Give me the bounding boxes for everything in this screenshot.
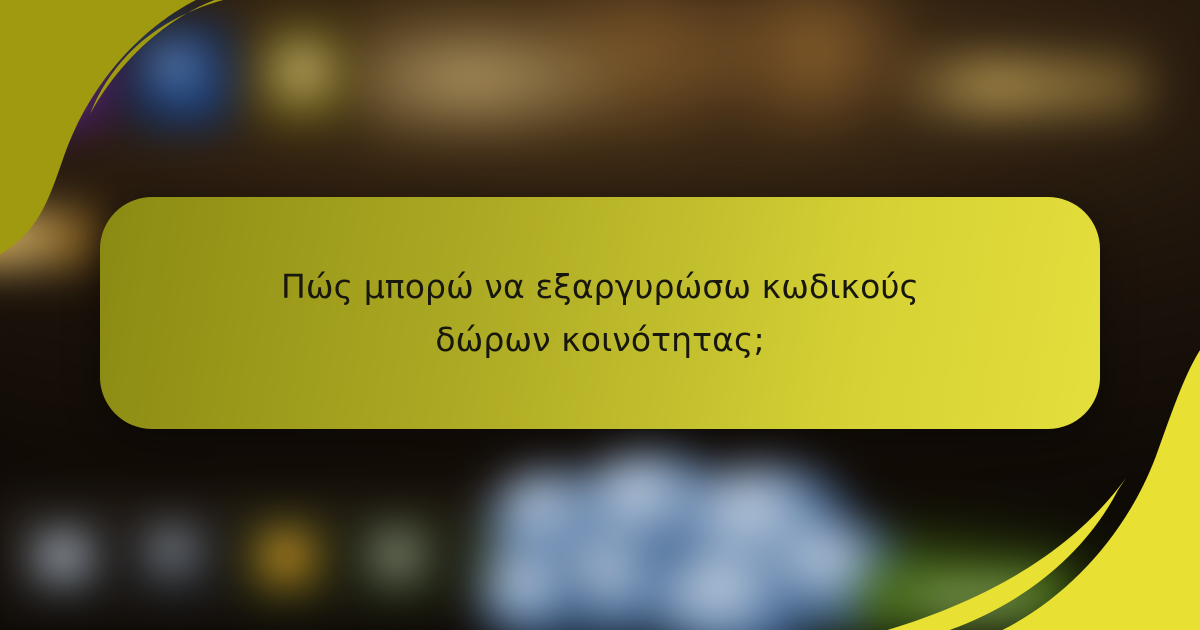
backdrop-inventory-slot <box>244 516 330 602</box>
backdrop-inventory-slot <box>132 516 218 602</box>
backdrop-gold-banner <box>900 56 1150 116</box>
backdrop-inventory-slot <box>22 516 108 602</box>
backdrop-inventory-slot <box>356 516 442 602</box>
faq-card-screenshot: Πώς μπορώ να εξαργυρώσω κωδικούς δώρων κ… <box>0 0 1200 630</box>
backdrop-warm-artwork <box>360 0 980 150</box>
question-card: Πώς μπορώ να εξαργυρώσω κωδικούς δώρων κ… <box>100 197 1100 429</box>
question-text: Πώς μπορώ να εξαργυρώσω κωδικούς δώρων κ… <box>260 260 940 367</box>
